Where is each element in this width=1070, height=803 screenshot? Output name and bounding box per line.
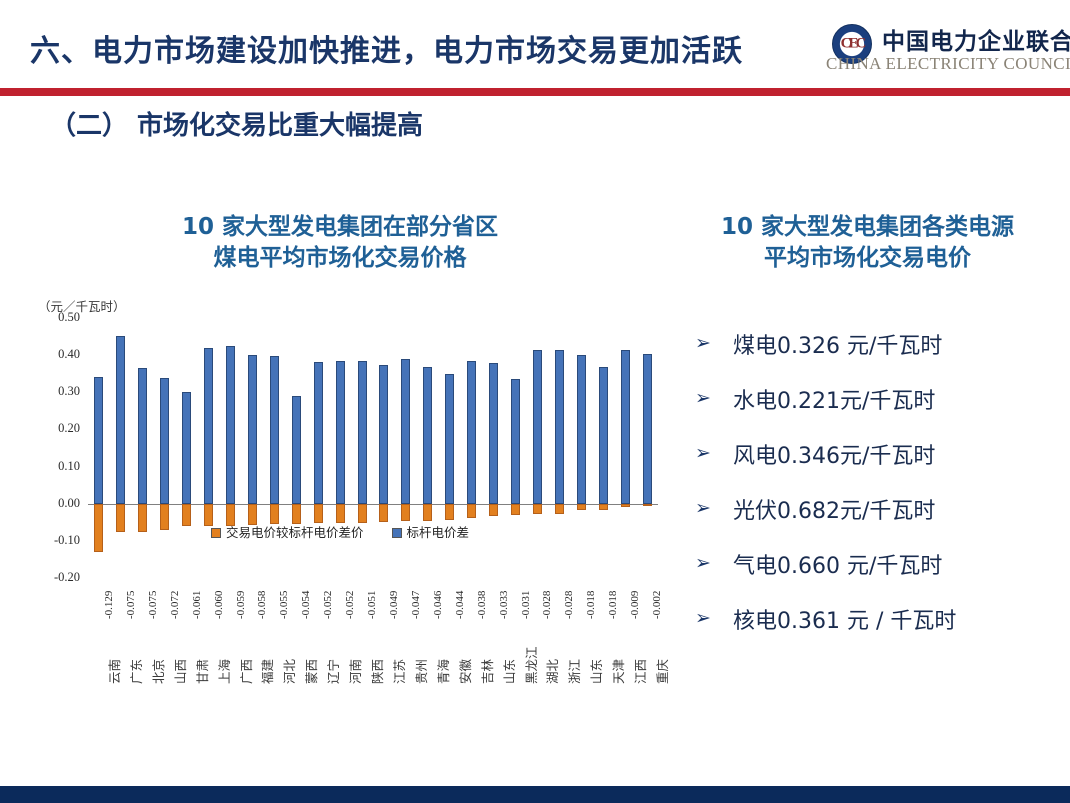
list-item: ➢风电0.346元/千瓦时 — [695, 438, 1065, 493]
category-label: 吉林 — [477, 659, 496, 684]
category-label: 云南 — [104, 659, 123, 684]
benchmark-bar — [445, 374, 454, 504]
bar-value-label: -0.018 — [585, 590, 597, 618]
category-label: 河北 — [279, 659, 298, 684]
legend-item: 标杆电价差 — [392, 522, 470, 541]
diff-bar — [445, 504, 454, 520]
benchmark-bar — [533, 350, 542, 504]
benchmark-bar — [511, 379, 520, 504]
logo-english-name: CHINA ELECTRICITY COUNCIL — [826, 54, 1070, 74]
bar-value-label: -0.049 — [388, 590, 400, 618]
category-label: 江西 — [630, 659, 649, 684]
category-label: 浙江 — [564, 659, 583, 684]
arrow-bullet-icon: ➢ — [695, 332, 711, 354]
arrow-bullet-icon: ➢ — [695, 387, 711, 409]
list-item-label: 水电0.221元/千瓦时 — [733, 383, 935, 415]
list-item-label: 核电0.361 元 / 千瓦时 — [733, 603, 956, 635]
y-axis-tick: 0.10 — [34, 459, 80, 474]
category-label: 福建 — [257, 659, 276, 684]
benchmark-bar — [314, 362, 323, 504]
bar-value-label: -0.031 — [520, 590, 532, 618]
bar-value-label: -0.028 — [563, 590, 575, 618]
list-item: ➢水电0.221元/千瓦时 — [695, 383, 1065, 438]
diff-bar — [423, 504, 432, 521]
chart-panel: 10 家大型发电集团在部分省区 煤电平均市场化交易价格 （元／千瓦时） 0.50… — [20, 200, 680, 670]
organization-logo: CEC 中国电力企业联合会 CHINA ELECTRICITY COUNCIL — [820, 20, 1066, 82]
list-item-label: 风电0.346元/千瓦时 — [733, 438, 935, 470]
legend-swatch — [392, 528, 402, 538]
benchmark-bar — [116, 336, 125, 504]
category-label: 北京 — [148, 659, 167, 684]
benchmark-bar — [336, 361, 345, 504]
benchmark-bar — [226, 346, 235, 504]
list-item-label: 气电0.660 元/千瓦时 — [733, 548, 942, 580]
diff-bar — [489, 504, 498, 516]
benchmark-bar — [160, 378, 169, 504]
bar-value-label: -0.075 — [125, 590, 137, 618]
bar-value-label: -0.052 — [322, 590, 334, 618]
benchmark-bar — [358, 361, 367, 503]
bar-value-label: -0.129 — [103, 590, 115, 618]
category-label: 广东 — [126, 659, 145, 684]
right-panel-title: 10 家大型发电集团各类电源 平均市场化交易电价 — [675, 212, 1060, 274]
bar-value-label: -0.033 — [498, 590, 510, 618]
benchmark-bar — [379, 365, 388, 504]
diff-bar — [643, 504, 652, 506]
category-label: 贵州 — [411, 659, 430, 684]
y-axis-tick: 0.50 — [34, 310, 80, 325]
bar-value-label: -0.047 — [410, 590, 422, 618]
category-label: 山东 — [586, 659, 605, 684]
diff-bar — [577, 504, 586, 511]
bar-value-label: -0.052 — [344, 590, 356, 618]
y-axis-tick: 0.30 — [34, 384, 80, 399]
arrow-bullet-icon: ➢ — [695, 552, 711, 574]
bar-value-label: -0.055 — [278, 590, 290, 618]
category-label: 蒙西 — [301, 659, 320, 684]
category-label: 湖北 — [542, 659, 561, 684]
y-axis-tick: 0.40 — [34, 347, 80, 362]
cec-emblem-text: CEC — [841, 36, 864, 53]
diff-bar — [621, 504, 630, 507]
category-label: 黑龙江 — [521, 646, 540, 684]
category-label: 天津 — [608, 659, 627, 684]
diff-bar — [379, 504, 388, 522]
arrow-bullet-icon: ➢ — [695, 442, 711, 464]
category-label: 重庆 — [652, 659, 671, 684]
bar-value-label: -0.038 — [476, 590, 488, 618]
category-label: 安徽 — [455, 659, 474, 684]
right-panel: 10 家大型发电集团各类电源 平均市场化交易电价 ➢煤电0.326 元/千瓦时➢… — [675, 200, 1065, 670]
benchmark-bar — [643, 354, 652, 504]
bar-value-label: -0.060 — [213, 590, 225, 618]
chart-title-line2: 煤电平均市场化交易价格 — [20, 243, 660, 274]
header-divider — [0, 88, 1070, 96]
benchmark-bar — [621, 350, 630, 503]
category-label: 河南 — [345, 659, 364, 684]
list-item-label: 煤电0.326 元/千瓦时 — [733, 328, 942, 360]
chart-legend: 交易电价较标杆电价差价标杆电价差 — [20, 522, 660, 542]
benchmark-bar — [292, 396, 301, 504]
logo-chinese-name: 中国电力企业联合会 — [882, 22, 1070, 56]
benchmark-bar — [270, 356, 279, 504]
diff-bar — [401, 504, 410, 521]
diff-bar — [467, 504, 476, 518]
benchmark-bar — [599, 367, 608, 504]
bar-value-label: -0.028 — [541, 590, 553, 618]
diff-bar — [336, 504, 345, 523]
diff-bar — [314, 504, 323, 523]
diff-bar — [599, 504, 608, 511]
chart-title-line1: 10 家大型发电集团在部分省区 — [20, 212, 660, 243]
bar-value-label: -0.061 — [191, 590, 203, 618]
bar-value-label: -0.018 — [607, 590, 619, 618]
category-label: 山东 — [499, 659, 518, 684]
benchmark-bar — [577, 355, 586, 504]
list-item: ➢光伏0.682元/千瓦时 — [695, 493, 1065, 548]
category-label: 陕西 — [367, 659, 386, 684]
bar-value-label: -0.054 — [300, 590, 312, 618]
list-item: ➢核电0.361 元 / 千瓦时 — [695, 603, 1065, 658]
benchmark-bar — [401, 359, 410, 503]
bar-value-label: -0.051 — [366, 590, 378, 618]
diff-bar — [555, 504, 564, 514]
category-label: 辽宁 — [323, 659, 342, 684]
category-label: 江苏 — [389, 659, 408, 684]
right-title-line2: 平均市场化交易电价 — [675, 243, 1060, 274]
bar-value-label: -0.059 — [235, 590, 247, 618]
chart-plot-wrapper: 0.500.400.300.200.100.00-0.10-0.20 -0.12… — [20, 318, 680, 670]
y-axis-tick: -0.20 — [34, 570, 80, 585]
bar-value-label: -0.058 — [256, 590, 268, 618]
diff-bar — [533, 504, 542, 514]
diff-bar — [511, 504, 520, 516]
bar-value-label: -0.002 — [651, 590, 663, 618]
benchmark-bar — [467, 361, 476, 503]
right-title-line1: 10 家大型发电集团各类电源 — [675, 212, 1060, 243]
bar-value-label: -0.046 — [432, 590, 444, 618]
bar-value-label: -0.072 — [169, 590, 181, 618]
benchmark-bar — [94, 377, 103, 503]
category-label: 广西 — [236, 659, 255, 684]
price-bullet-list: ➢煤电0.326 元/千瓦时➢水电0.221元/千瓦时➢风电0.346元/千瓦时… — [695, 328, 1065, 658]
chart-title: 10 家大型发电集团在部分省区 煤电平均市场化交易价格 — [20, 212, 660, 274]
benchmark-bar — [138, 368, 147, 504]
page-title: 六、电力市场建设加快推进，电力市场交易更加活跃 — [30, 26, 743, 70]
category-label: 上海 — [214, 659, 233, 684]
y-axis-tick: 0.00 — [34, 496, 80, 511]
category-label: 山西 — [170, 659, 189, 684]
arrow-bullet-icon: ➢ — [695, 497, 711, 519]
diff-bar — [292, 504, 301, 524]
diff-bar — [358, 504, 367, 523]
legend-item: 交易电价较标杆电价差价 — [211, 522, 364, 541]
benchmark-bar — [489, 363, 498, 503]
list-item: ➢气电0.660 元/千瓦时 — [695, 548, 1065, 603]
bar-value-label: -0.044 — [454, 590, 466, 618]
benchmark-bar — [423, 367, 432, 504]
bar-value-label: -0.075 — [147, 590, 159, 618]
category-label: 青海 — [433, 659, 452, 684]
legend-label: 标杆电价差 — [407, 526, 470, 540]
benchmark-bar — [248, 355, 257, 504]
zero-baseline — [88, 504, 658, 505]
legend-label: 交易电价较标杆电价差价 — [226, 526, 364, 540]
list-item-label: 光伏0.682元/千瓦时 — [733, 493, 935, 525]
y-axis-tick: 0.20 — [34, 421, 80, 436]
benchmark-bar — [182, 392, 191, 504]
list-item: ➢煤电0.326 元/千瓦时 — [695, 328, 1065, 383]
section-subtitle: （二） 市场化交易比重大幅提高 — [50, 105, 423, 142]
benchmark-bar — [555, 350, 564, 504]
bar-value-label: -0.009 — [629, 590, 641, 618]
slide-header: 六、电力市场建设加快推进，电力市场交易更加活跃 CEC 中国电力企业联合会 CH… — [0, 0, 1070, 88]
category-label: 甘肃 — [192, 659, 211, 684]
benchmark-bar — [204, 348, 213, 504]
legend-swatch — [211, 528, 221, 538]
arrow-bullet-icon: ➢ — [695, 607, 711, 629]
footer-bar — [0, 786, 1070, 803]
